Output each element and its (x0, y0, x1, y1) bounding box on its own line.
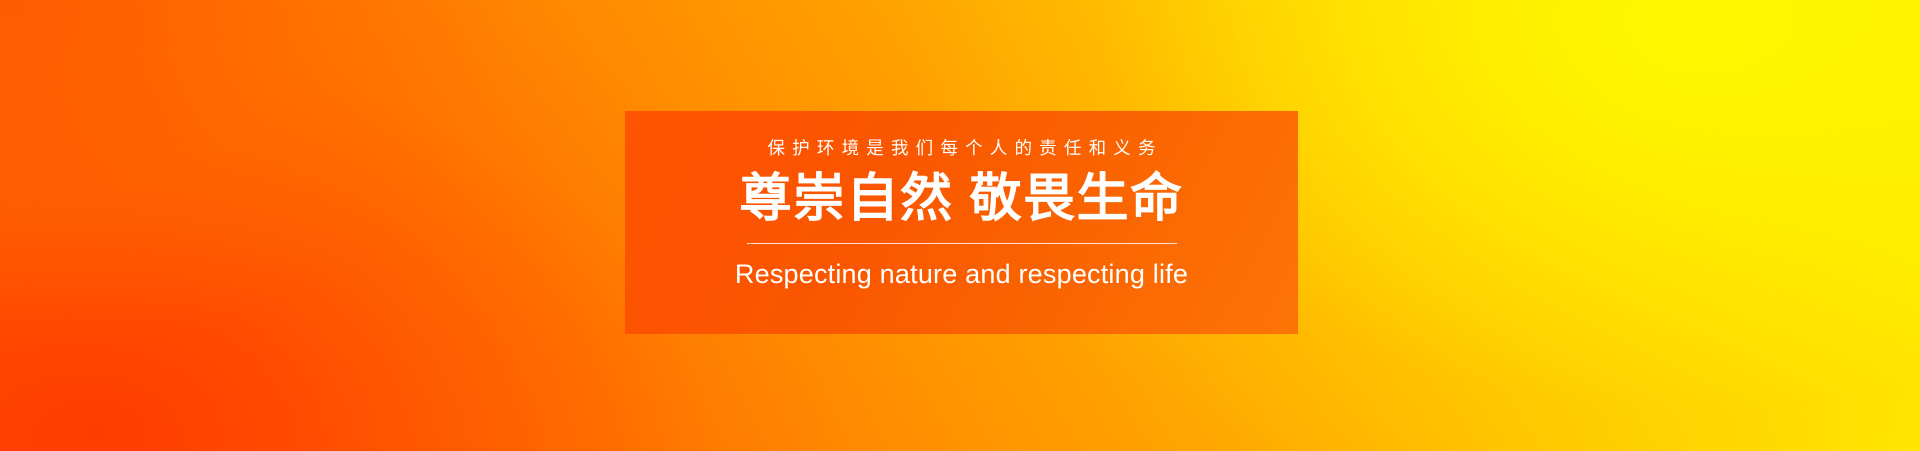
slogan-divider (747, 243, 1177, 244)
environment-slogan-banner: 保护环境是我们每个人的责任和义务 尊崇自然 敬畏生命 Respecting na… (0, 0, 1920, 451)
slogan-headline-text: 尊崇自然 敬畏生命 (740, 172, 1184, 227)
slogan-kicker-text: 保护环境是我们每个人的责任和义务 (760, 140, 1162, 158)
slogan-english-subtitle: Respecting nature and respecting life (735, 260, 1188, 290)
slogan-card: 保护环境是我们每个人的责任和义务 尊崇自然 敬畏生命 Respecting na… (625, 111, 1298, 334)
